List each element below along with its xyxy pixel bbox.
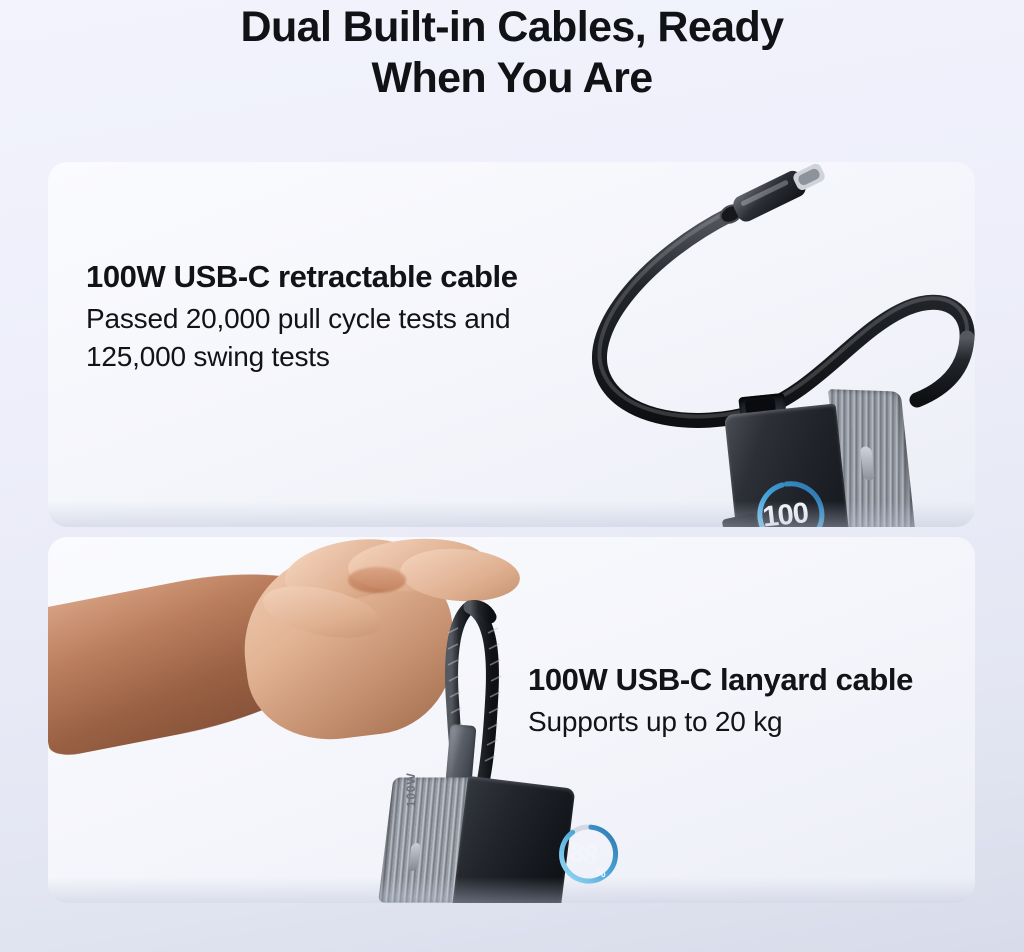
feature-card-retractable-cable: 100W USB-C retractable cable Passed 20,0… [48,162,975,527]
feature-title-1: 100W USB-C retractable cable [86,256,606,297]
product-image-lanyard-cable: 100W [48,537,608,903]
device-wattage-label: 100W [404,772,418,807]
page-title: Dual Built-in Cables, Ready When You Are [0,2,1024,104]
feature-text-block-2: 100W USB-C lanyard cable Supports up to … [528,659,948,741]
product-image-retractable-cable: 100% [555,162,975,527]
page-title-line-1: Dual Built-in Cables, Ready [0,2,1024,53]
feature-subtitle-1: Passed 20,000 pull cycle tests and 125,0… [86,300,606,376]
feature-subtitle-2: Supports up to 20 kg [528,703,948,741]
feature-card-lanyard-cable: 100W [48,537,975,903]
card-bottom-shadow [48,877,975,903]
card-bottom-shadow [48,501,975,527]
power-button [408,842,421,871]
page-title-line-2: When You Are [0,53,1024,104]
product-feature-page: Dual Built-in Cables, Ready When You Are… [0,0,1024,952]
feature-text-block-1: 100W USB-C retractable cable Passed 20,0… [86,256,606,376]
feature-title-2: 100W USB-C lanyard cable [528,659,948,700]
